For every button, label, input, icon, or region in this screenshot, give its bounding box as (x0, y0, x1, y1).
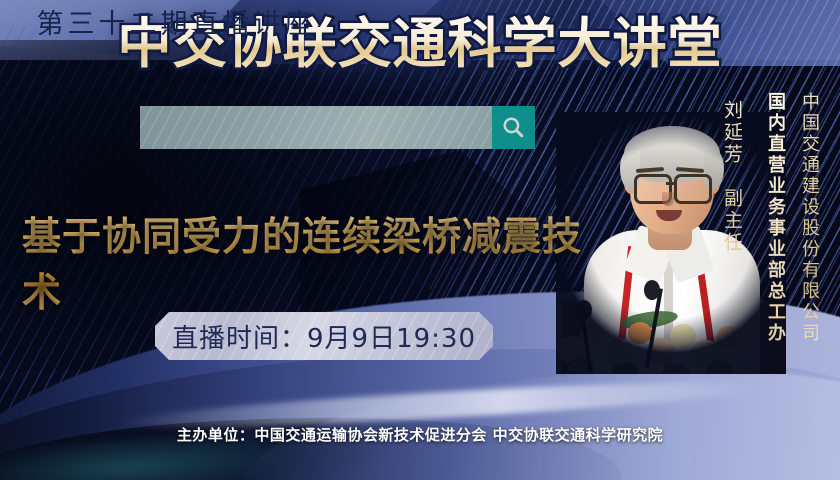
topic-title: 基于协同受力的连续梁桥减震技术 (22, 206, 602, 318)
flower (716, 326, 742, 350)
flower-leaf (612, 362, 638, 374)
flower-leaf (662, 364, 690, 374)
subtitle-label: 第三十二期直播讲座 (0, 0, 352, 43)
live-stream-poster: 中交协联交通科学大讲堂 中交协联交通科学大讲堂 第三十二期直播讲座 基于协同受力… (0, 0, 840, 480)
speaker-nose (662, 192, 674, 206)
live-time-label: 直播时间：9月9日19:30 (172, 318, 476, 355)
speaker-company: 中国交通建设股份有限公司 (796, 92, 822, 344)
flower-leaf (706, 360, 732, 374)
speaker-department: 国内直营业务事业部总工办 (762, 92, 788, 344)
search-icon (501, 115, 526, 140)
microphone-head-one (644, 280, 660, 300)
subtitle-bar (140, 106, 492, 149)
search-button[interactable] (492, 106, 535, 149)
flower (628, 322, 652, 344)
eyeglass-right (674, 174, 712, 204)
eyeglass-bridge (666, 182, 674, 185)
live-time-banner: 直播时间：9月9日19:30 (155, 312, 493, 360)
speaker-name-title: 刘延芳 副主任 (719, 100, 746, 254)
flower (670, 324, 696, 348)
organizer-footer: 主办单位：中国交通运输协会新技术促进分会 中交协联交通科学研究院 (0, 424, 840, 445)
